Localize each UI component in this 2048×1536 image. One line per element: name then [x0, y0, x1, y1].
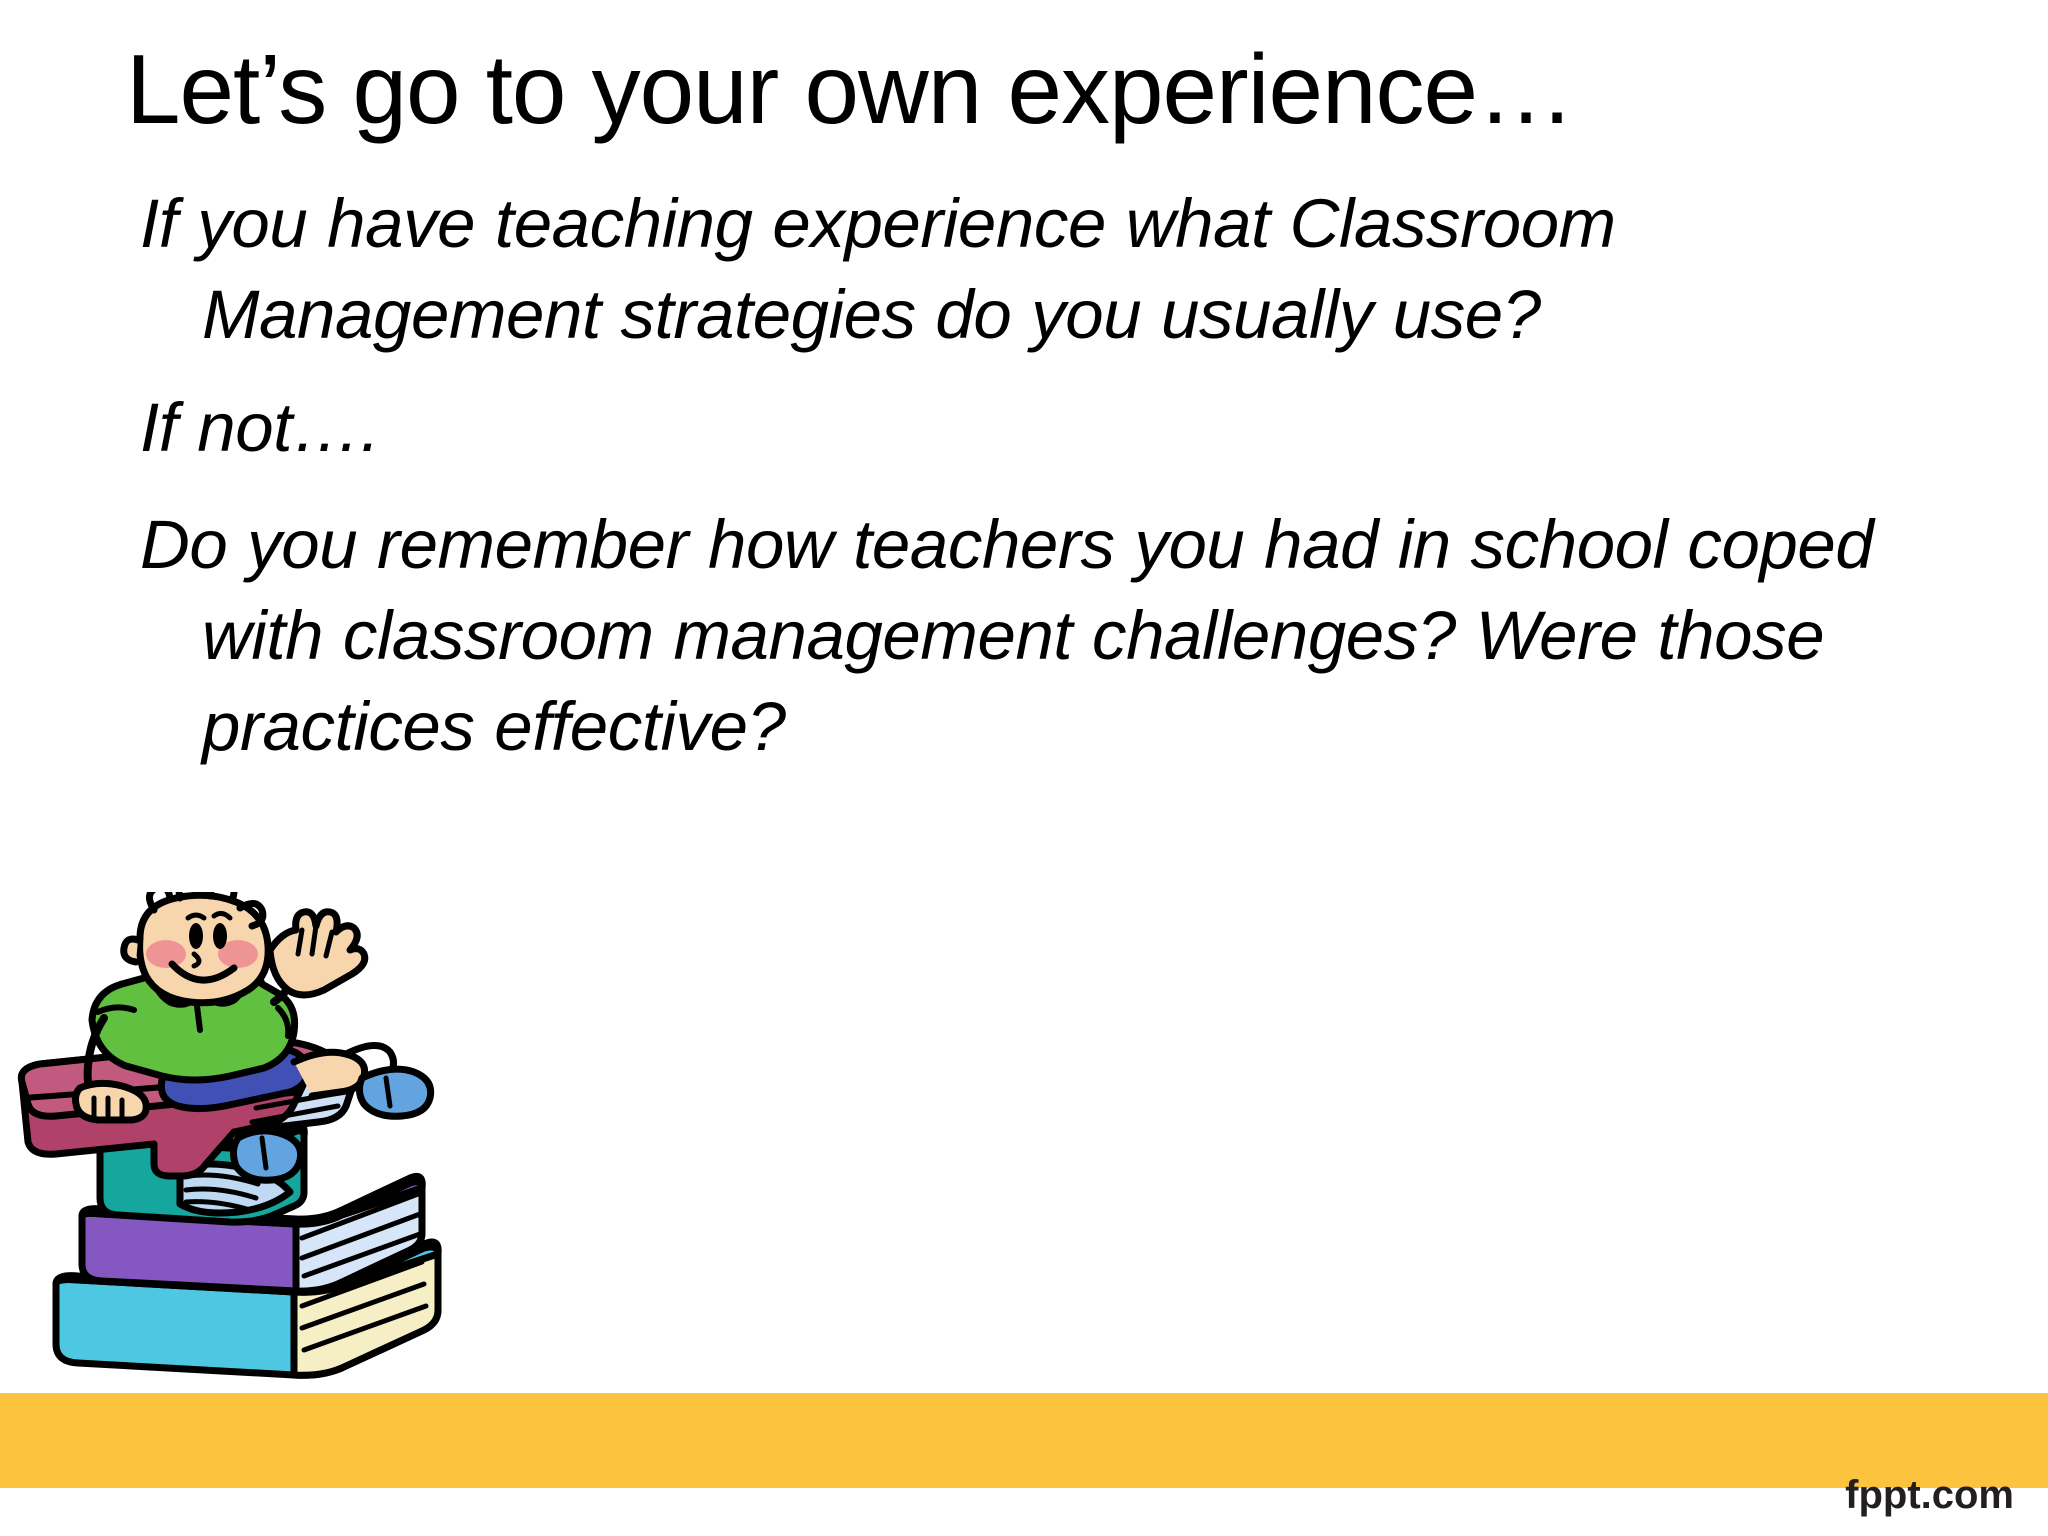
- body-paragraph-1: If you have teaching experience what Cla…: [140, 178, 1980, 360]
- boy-on-books-illustration: [0, 892, 464, 1412]
- body-paragraph-2: If not….: [140, 382, 1980, 473]
- body-paragraph-3: Do you remember how teachers you had in …: [140, 499, 1980, 772]
- fppt-watermark: fppt.com: [1845, 1473, 2014, 1518]
- page-title: Let’s go to your own experience…: [126, 38, 2026, 141]
- footer-color-band: [0, 1393, 2048, 1488]
- slide-canvas: Let’s go to your own experience… If you …: [0, 0, 2048, 1536]
- body-text-block: If you have teaching experience what Cla…: [140, 178, 1980, 772]
- boy-right-arm: [270, 912, 365, 1002]
